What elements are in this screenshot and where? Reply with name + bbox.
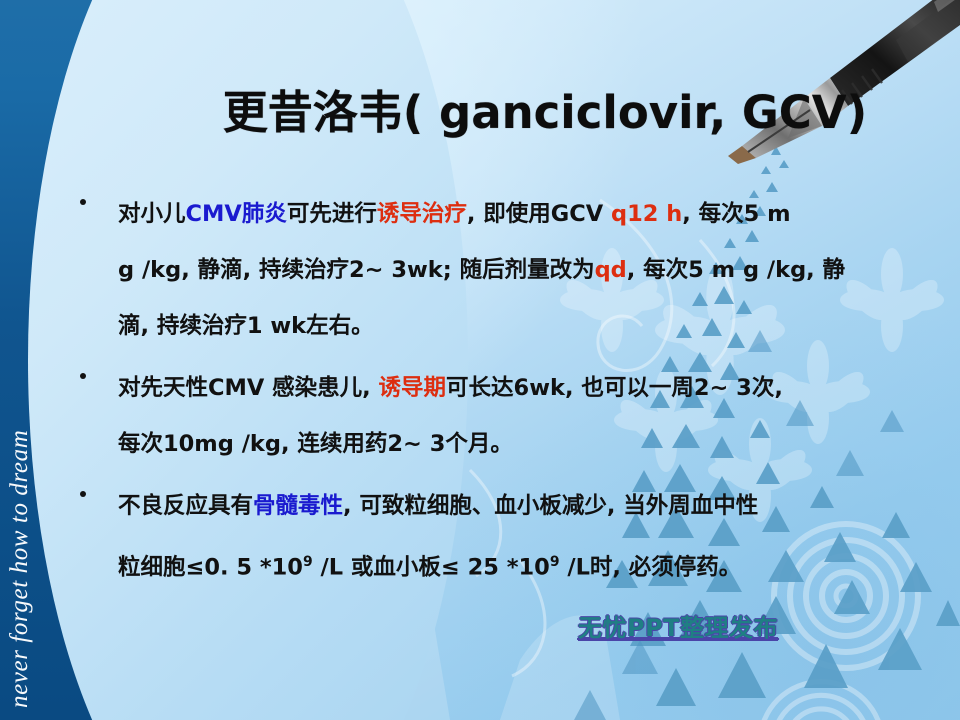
sidebar-motto: never forget how to dream [6,578,34,720]
text-run: /L时, 必须停药。 [560,555,742,581]
slide-canvas: never forget how to dream [0,0,960,720]
text-run: 滴, 持续治疗1 wk左右。 [118,313,374,339]
bullet-marker-icon [80,199,86,205]
text-run: 诱导治疗 [377,201,467,227]
bullet-line: 粒细胞≤0. 5 *109 /L 或血小板≤ 25 *109 /L时, 必须停药… [72,534,952,596]
bullet-marker-icon [80,491,86,497]
page-title: 更昔洛韦( ganciclovir, GCV) [150,88,940,138]
bullet-item: 对小儿CMV肺炎可先进行诱导治疗, 即使用GCV q12 h, 每次5 mg /… [72,186,952,354]
text-run: , 即使用GCV [467,201,611,227]
text-run: , 每次5 m g /kg, 静 [627,257,845,283]
text-run: 诱导期 [379,375,447,401]
text-run: 可先进行 [287,201,377,227]
text-run: , 每次5 m [682,201,790,227]
bullet-line: 滴, 持续治疗1 wk左右。 [72,298,952,354]
text-run: 9 [550,554,560,570]
text-run: 不良反应具有 [118,493,253,519]
text-run: /L 或血小板≤ 25 *10 [313,555,550,581]
text-run: 9 [303,554,313,570]
text-run: 对小儿 [118,201,186,227]
text-run: CMV肺炎 [186,201,287,227]
text-run: g /kg, 静滴, 持续治疗2~ 3wk; 随后剂量改为 [118,257,595,283]
bullet-line: 对先天性CMV 感染患儿, 诱导期可长达6wk, 也可以一周2~ 3次, [72,360,952,416]
bullet-list: 对小儿CMV肺炎可先进行诱导治疗, 即使用GCV q12 h, 每次5 mg /… [72,186,952,602]
bullet-line: g /kg, 静滴, 持续治疗2~ 3wk; 随后剂量改为qd, 每次5 m g… [72,242,952,298]
watermark-credit: 无忧PPT整理发布 [578,608,778,643]
text-run: 每次10mg /kg, 连续用药2~ 3个月。 [118,431,513,457]
text-run: q12 h [611,201,682,227]
text-run: 可长达6wk, 也可以一周2~ 3次, [446,375,783,401]
text-run: 骨髓毒性 [253,493,343,519]
text-run: 粒细胞≤0. 5 *10 [118,555,303,581]
bullet-line: 对小儿CMV肺炎可先进行诱导治疗, 即使用GCV q12 h, 每次5 m [72,186,952,242]
bullet-line: 不良反应具有骨髓毒性, 可致粒细胞、血小板减少, 当外周血中性 [72,478,952,534]
bullet-item: 对先天性CMV 感染患儿, 诱导期可长达6wk, 也可以一周2~ 3次,每次10… [72,360,952,472]
text-run: 对先天性CMV 感染患儿, [118,375,379,401]
bullet-line: 每次10mg /kg, 连续用药2~ 3个月。 [72,416,952,472]
text-run: , 可致粒细胞、血小板减少, 当外周血中性 [343,493,758,519]
bullet-marker-icon [80,373,86,379]
bullet-item: 不良反应具有骨髓毒性, 可致粒细胞、血小板减少, 当外周血中性粒细胞≤0. 5 … [72,478,952,596]
text-run: qd [595,257,627,283]
